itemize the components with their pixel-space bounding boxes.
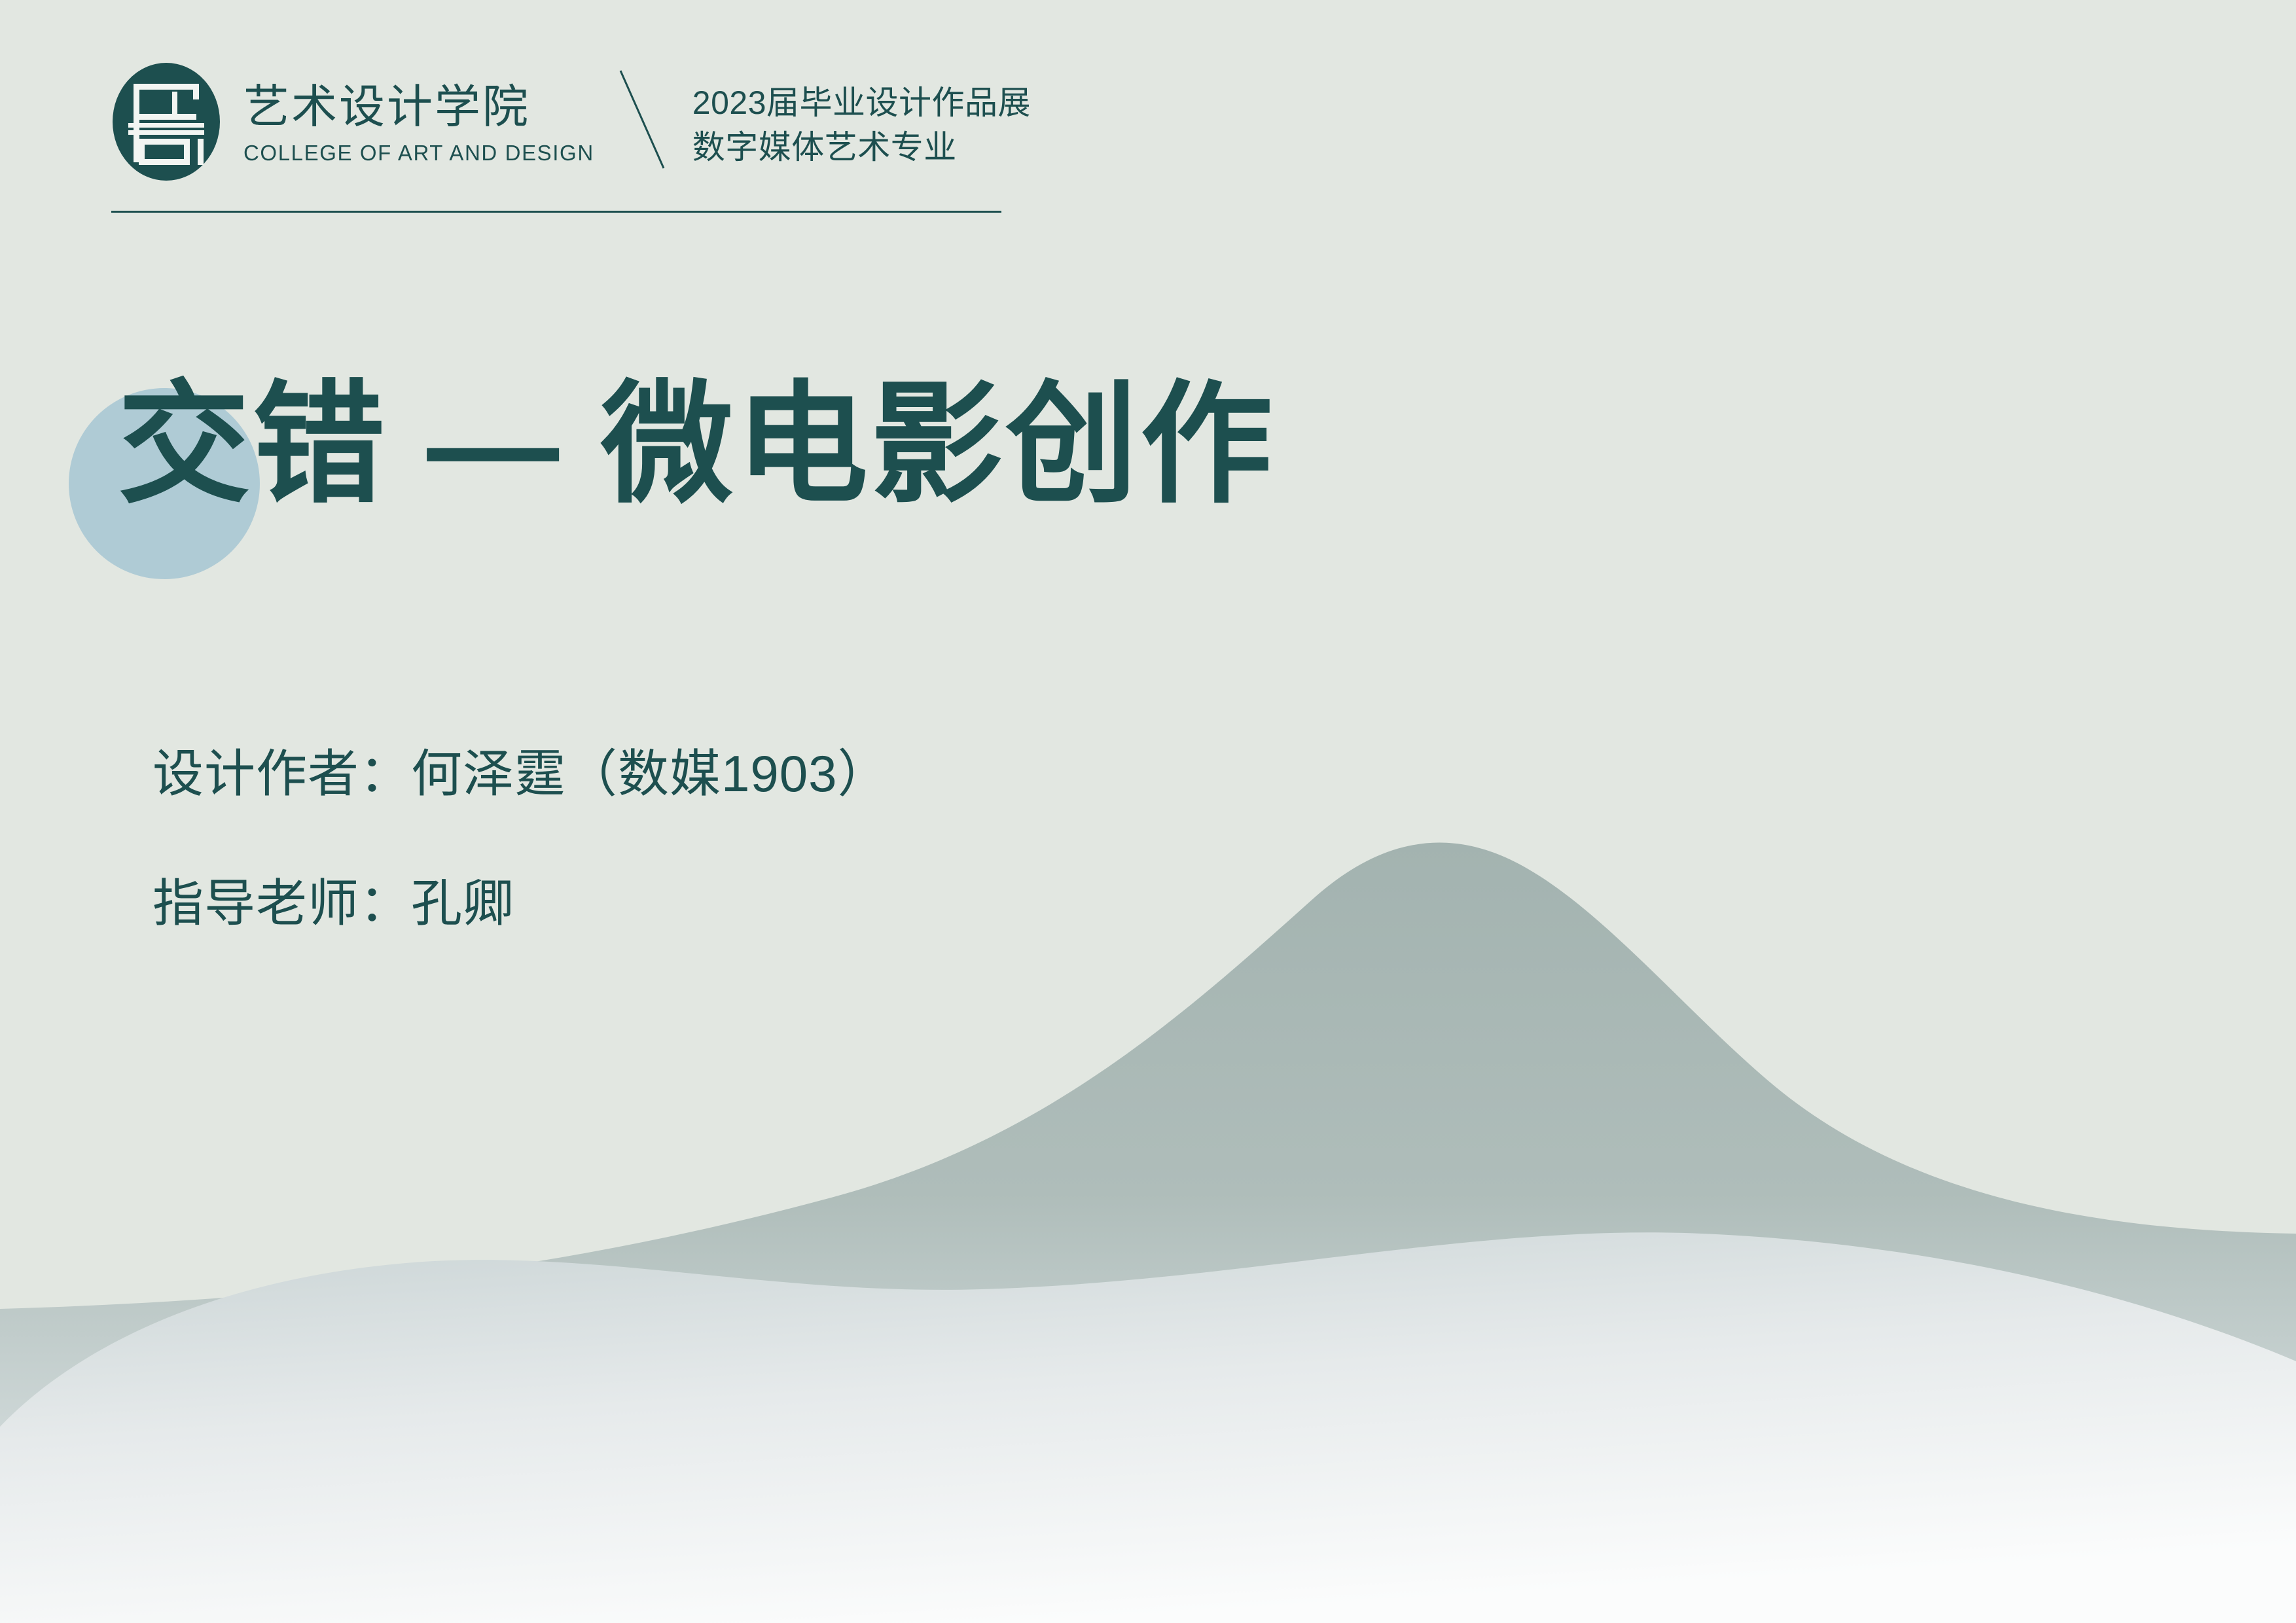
college-logo: 艺术设计学院 COLLEGE OF ART AND DESIGN [111,60,594,183]
page-title: 交错 — 微电影创作 [118,366,1275,522]
title-slide: 艺术设计学院 COLLEGE OF ART AND DESIGN 2023届毕业… [0,0,2296,1623]
college-name-cn: 艺术设计学院 [243,82,594,132]
header-divider-rule [111,211,1001,213]
diagonal-slash-icon [609,60,687,198]
exhibition-line-2: 数字媒体艺术专业 [692,128,1031,166]
college-name-block: 艺术设计学院 COLLEGE OF ART AND DESIGN [243,79,594,165]
author-line: 设计作者：何泽霆（数媒1903） [152,746,889,802]
slide-header: 艺术设计学院 COLLEGE OF ART AND DESIGN 2023届毕业… [111,60,1031,211]
credits-block: 设计作者：何泽霆（数媒1903） 指导老师：孔卿 [152,746,889,932]
foreground-blob-shape [0,1232,2296,1623]
college-name-en: COLLEGE OF ART AND DESIGN [243,141,594,165]
instructor-line: 指导老师：孔卿 [152,876,889,932]
mountain-shape [0,843,2296,1623]
college-emblem-icon [111,60,221,183]
exhibition-line-1: 2023届毕业设计作品展 [692,84,1031,122]
exhibition-info: 2023届毕业设计作品展 数字媒体艺术专业 [692,60,1031,166]
title-block: 交错 — 微电影创作 [111,366,1813,589]
